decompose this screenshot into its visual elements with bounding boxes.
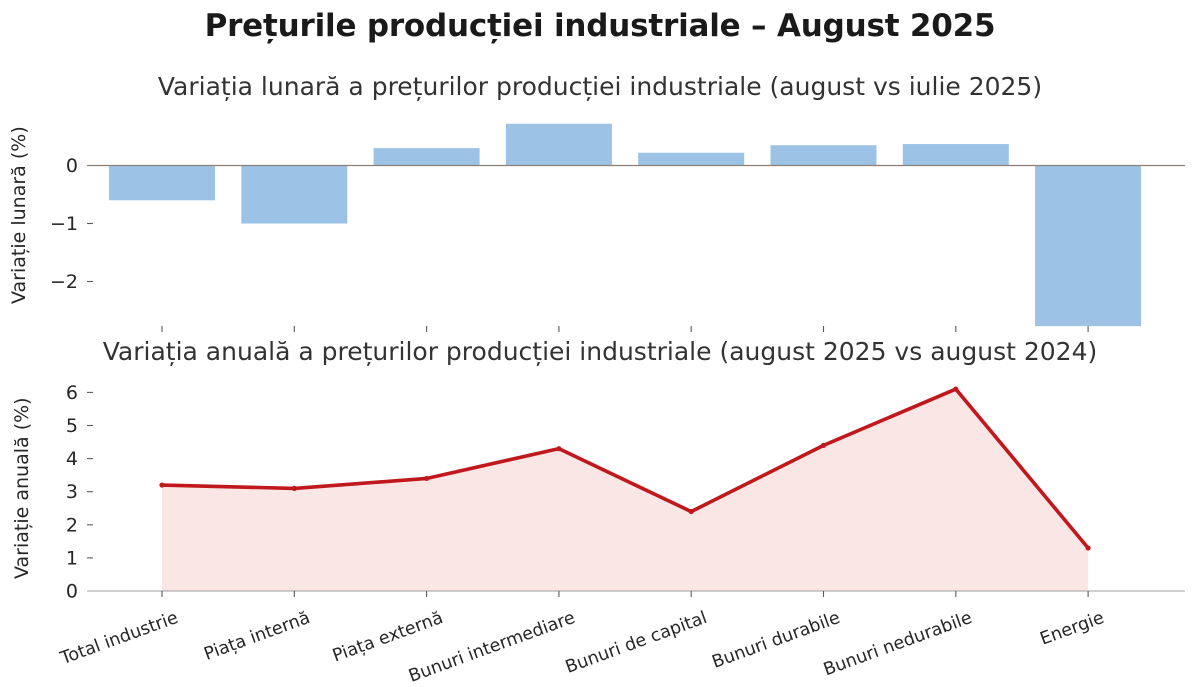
annual-data-point[interactable] bbox=[689, 509, 694, 514]
figure-root: Prețurile producției industriale – Augus… bbox=[0, 0, 1200, 675]
annual-area-fill bbox=[162, 389, 1088, 591]
annual-y-tick-label: 5 bbox=[66, 415, 78, 437]
monthly-bar-chart-svg: 0−1−2 bbox=[0, 110, 1200, 335]
x-axis-label: Bunuri nedurabile bbox=[821, 608, 975, 680]
monthly-bar[interactable] bbox=[506, 124, 612, 166]
x-axis-label: Total industrie bbox=[58, 608, 181, 669]
annual-y-tick-label: 1 bbox=[66, 547, 78, 569]
x-axis-label: Energie bbox=[1038, 608, 1107, 650]
annual-y-tick-label: 6 bbox=[66, 382, 78, 404]
monthly-bar-chart: 0−1−2 bbox=[0, 110, 1200, 335]
annual-y-tick-label: 3 bbox=[66, 481, 78, 503]
monthly-bar[interactable] bbox=[771, 145, 877, 165]
annual-data-point[interactable] bbox=[292, 486, 297, 491]
monthly-bar[interactable] bbox=[109, 166, 215, 201]
monthly-y-tick-label: 0 bbox=[66, 155, 78, 177]
monthly-bar[interactable] bbox=[241, 166, 347, 224]
annual-data-point[interactable] bbox=[556, 446, 561, 451]
monthly-y-tick-label: −2 bbox=[50, 271, 78, 293]
annual-data-point[interactable] bbox=[159, 482, 164, 487]
monthly-bar[interactable] bbox=[1035, 166, 1141, 327]
monthly-chart-subtitle: Variația lunară a prețurilor producției … bbox=[0, 72, 1200, 101]
annual-data-point[interactable] bbox=[424, 476, 429, 481]
annual-y-tick-label: 2 bbox=[66, 514, 78, 536]
annual-y-tick-label: 4 bbox=[66, 448, 78, 470]
x-axis-label: Piața externă bbox=[330, 608, 446, 666]
annual-area-chart-svg: 0123456 bbox=[0, 375, 1200, 600]
annual-chart-subtitle: Variația anuală a prețurilor producției … bbox=[0, 337, 1200, 366]
figure-title: Prețurile producției industriale – Augus… bbox=[0, 8, 1200, 44]
monthly-y-tick-label: −1 bbox=[50, 213, 78, 235]
monthly-bar[interactable] bbox=[374, 148, 480, 165]
monthly-bar[interactable] bbox=[903, 144, 1009, 165]
annual-data-point[interactable] bbox=[821, 443, 826, 448]
x-axis-category-labels: Total industriePiața internăPiața extern… bbox=[0, 600, 1200, 675]
x-axis-label: Piața internă bbox=[202, 608, 313, 665]
annual-data-point[interactable] bbox=[953, 386, 958, 391]
annual-data-point[interactable] bbox=[1086, 545, 1091, 550]
monthly-bar[interactable] bbox=[638, 153, 744, 166]
x-axis-label: Bunuri de capital bbox=[563, 608, 710, 678]
annual-area-chart: 0123456 bbox=[0, 375, 1200, 600]
